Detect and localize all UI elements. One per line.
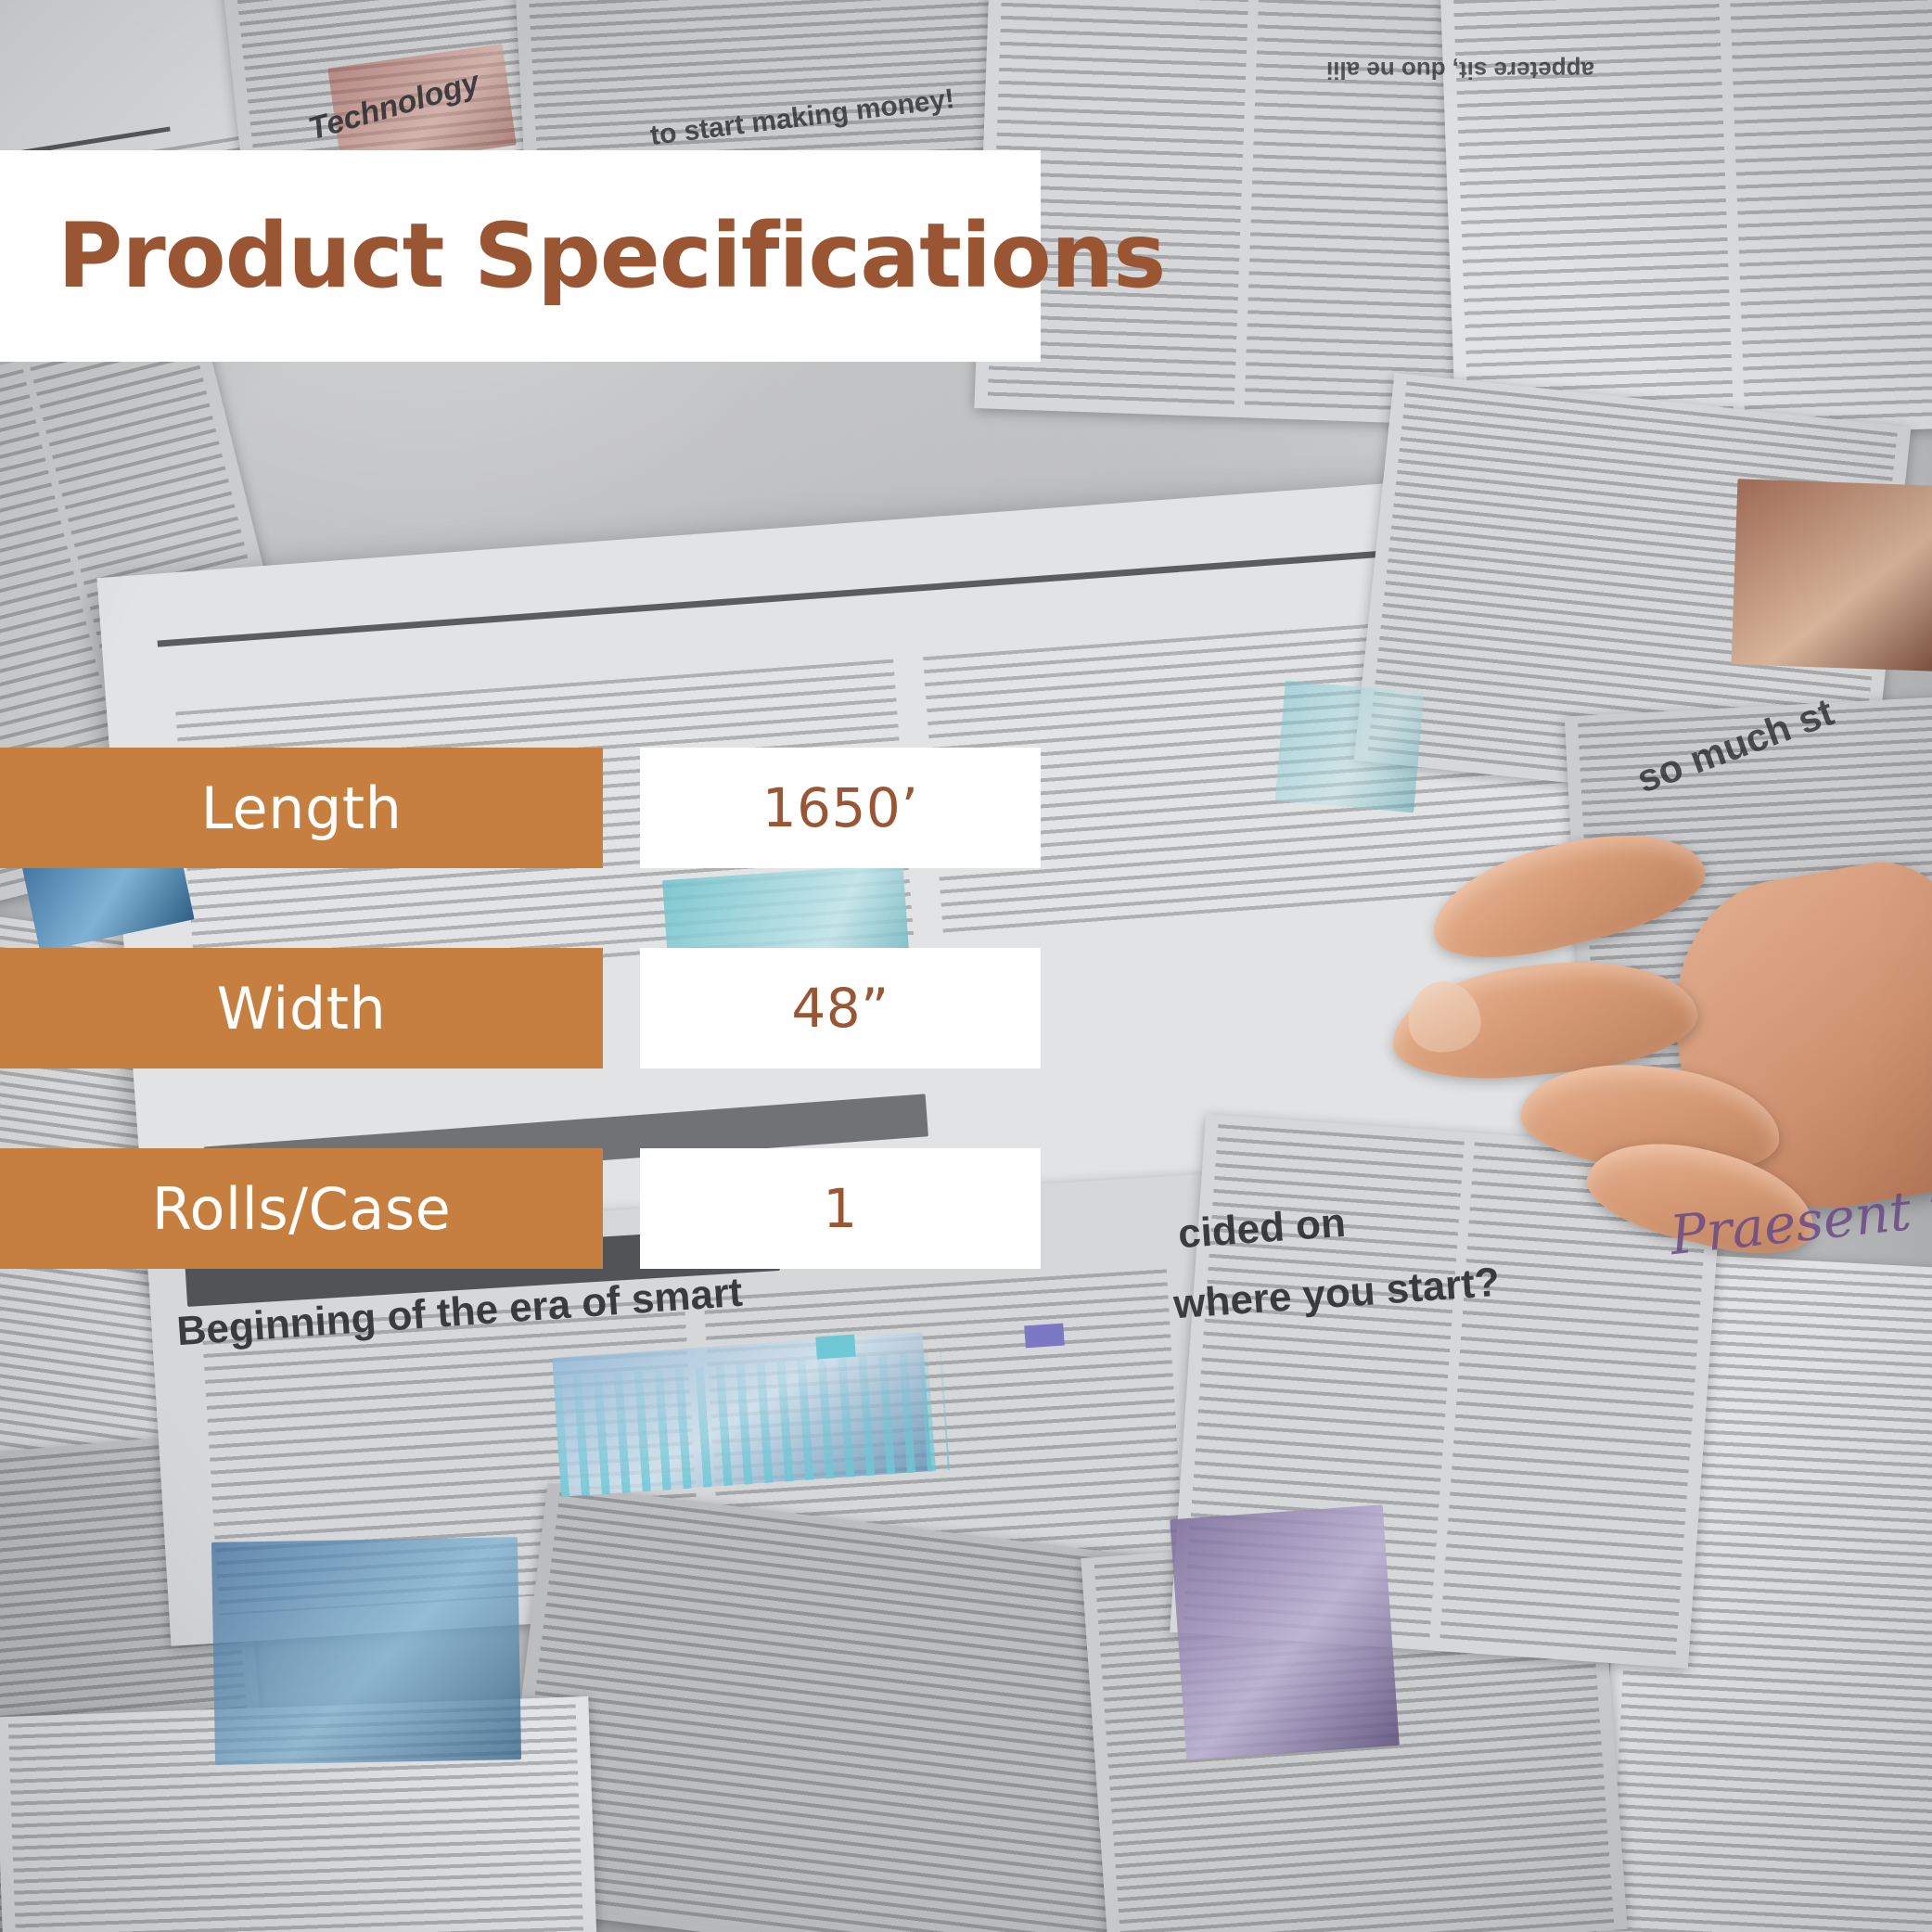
spec-label-rolls-per-case: Rolls/Case (0, 1148, 603, 1269)
spec-label-length: Length (0, 748, 603, 868)
spec-gap (603, 1148, 640, 1269)
spec-label-width: Width (0, 948, 603, 1068)
spec-value-length: 1650’ (640, 748, 1041, 868)
spec-row-width: Width 48” (0, 948, 1041, 1068)
spec-row-length: Length 1650’ (0, 748, 1041, 868)
page-title: Product Specifications (58, 211, 1165, 301)
spec-gap (603, 748, 640, 868)
title-banner: Product Specifications (0, 150, 1041, 362)
slide-canvas: Technology to start making money! Beginn… (0, 0, 1932, 1932)
spec-value-width: 48” (640, 948, 1041, 1068)
spec-value-rolls-per-case: 1 (640, 1148, 1041, 1269)
spec-row-rolls-per-case: Rolls/Case 1 (0, 1148, 1041, 1269)
spec-gap (603, 948, 640, 1068)
